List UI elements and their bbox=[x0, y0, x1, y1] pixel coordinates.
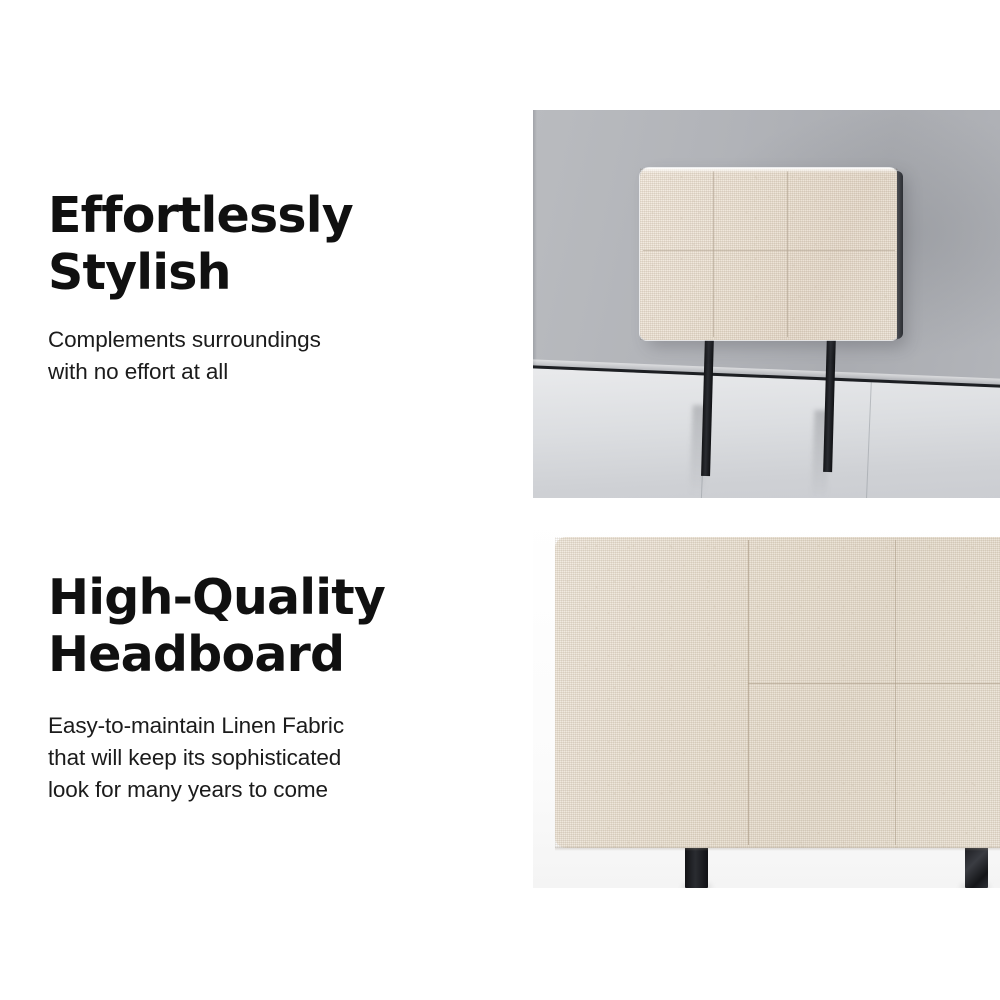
feature-subcopy-high-quality-headboard: Easy-to-maintain Linen Fabric that will … bbox=[48, 710, 498, 806]
linen-weave-texture-closeup bbox=[555, 537, 1000, 848]
feature-headline-high-quality-headboard: High-Quality Headboard bbox=[48, 570, 498, 684]
feature-headline-effortlessly-stylish: Effortlessly Stylish bbox=[48, 188, 498, 302]
feature-subcopy-effortlessly-stylish: Complements surroundings with no effort … bbox=[48, 324, 498, 388]
room-floor bbox=[533, 368, 1000, 498]
closeup-seam-vertical-2 bbox=[895, 540, 896, 845]
headboard-seam-horizontal bbox=[643, 250, 895, 251]
linen-weave-texture bbox=[640, 168, 898, 340]
photo-headboard-closeup bbox=[533, 512, 1000, 888]
headboard-panel-room bbox=[640, 168, 898, 340]
closeup-seam-vertical-1 bbox=[748, 540, 749, 845]
headboard-seam-vertical-1 bbox=[713, 171, 714, 337]
headboard-seam-vertical-2 bbox=[787, 171, 788, 337]
product-feature-canvas: Effortlessly Stylish Complements surroun… bbox=[0, 0, 1000, 1000]
closeup-leg-right bbox=[965, 846, 988, 888]
photo-headboard-in-room bbox=[533, 110, 1000, 498]
closeup-leg-left bbox=[685, 846, 708, 888]
closeup-bottom-shadow bbox=[555, 847, 1000, 851]
headboard-side-depth-edge bbox=[897, 171, 903, 339]
headboard-top-highlight bbox=[642, 168, 896, 173]
linen-speck-texture-closeup bbox=[555, 537, 1000, 848]
headboard-panel-closeup bbox=[555, 537, 1000, 848]
closeup-seam-horizontal bbox=[748, 683, 1000, 684]
feature-block-effortlessly-stylish: Effortlessly Stylish Complements surroun… bbox=[48, 188, 498, 388]
wall-corner-seam bbox=[533, 110, 537, 378]
linen-speck-texture bbox=[640, 168, 898, 340]
feature-block-high-quality-headboard: High-Quality Headboard Easy-to-maintain … bbox=[48, 570, 498, 805]
